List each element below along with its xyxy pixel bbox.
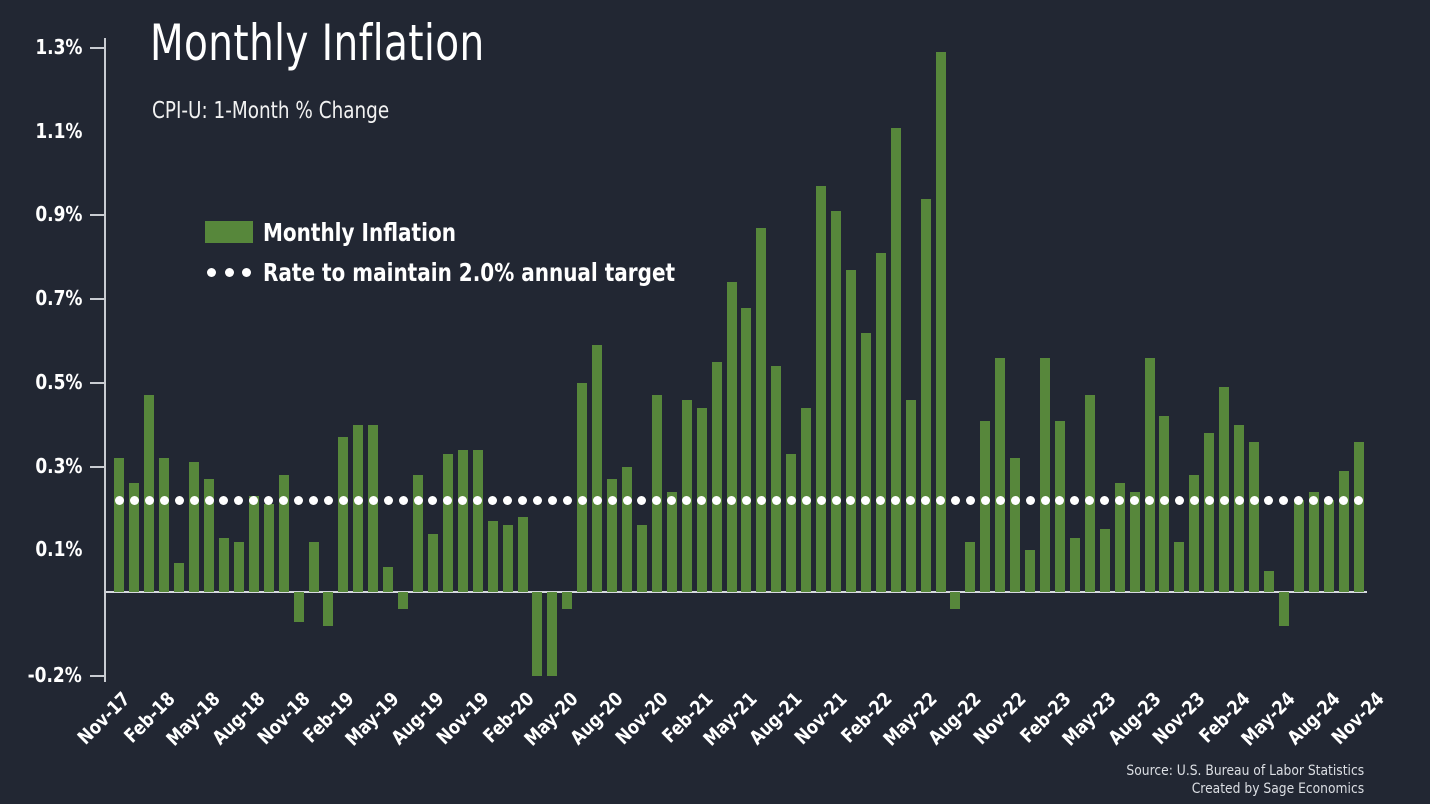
bar [1204, 433, 1214, 592]
bar [1174, 542, 1184, 592]
bar [667, 492, 677, 592]
bar [114, 458, 124, 592]
target-line-dot [832, 496, 841, 505]
target-line-dot [384, 496, 393, 505]
bar [294, 592, 304, 621]
target-line-dot [1205, 496, 1214, 505]
target-line-dot [578, 496, 587, 505]
bar [1219, 387, 1229, 592]
target-line-dot [503, 496, 512, 505]
bar [592, 345, 602, 592]
bar [1264, 571, 1274, 592]
target-line-dot [234, 496, 243, 505]
bar [503, 525, 513, 592]
bar [368, 425, 378, 592]
target-line-dot [518, 496, 527, 505]
target-line-dot [1085, 496, 1094, 505]
target-line-dot [414, 496, 423, 505]
target-line-dot [593, 496, 602, 505]
y-axis-label: 0.7% [35, 286, 82, 310]
target-line-dot [652, 496, 661, 505]
y-axis-label: 0.9% [35, 202, 82, 226]
target-line-dot [115, 496, 124, 505]
bar [786, 454, 796, 592]
target-line-dot [249, 496, 258, 505]
target-line-dot [1354, 496, 1363, 505]
target-line-dot [1100, 496, 1109, 505]
bar [1354, 442, 1364, 593]
chart-canvas: Monthly Inflation CPI-U: 1-Month % Chang… [0, 0, 1430, 804]
y-axis-tick [90, 675, 104, 677]
target-line-dot [354, 496, 363, 505]
y-axis-label: 0.3% [35, 454, 82, 478]
target-line-dot [1011, 496, 1020, 505]
target-line-dot [608, 496, 617, 505]
target-line-dot [1220, 496, 1229, 505]
target-line-dot [175, 496, 184, 505]
bar [1189, 475, 1199, 592]
target-line-dot [309, 496, 318, 505]
bar [652, 395, 662, 592]
target-line-dot [1130, 496, 1139, 505]
target-line-dot [369, 496, 378, 505]
y-axis-tick [90, 382, 104, 384]
bar [473, 450, 483, 592]
target-line-dot [1324, 496, 1333, 505]
bar [936, 52, 946, 592]
target-line-dot [533, 496, 542, 505]
bar [338, 437, 348, 592]
target-line-dot [279, 496, 288, 505]
target-line-dot [772, 496, 781, 505]
bar [1294, 500, 1304, 592]
target-line-dot [190, 496, 199, 505]
y-axis-label: 1.1% [35, 119, 82, 143]
bar [921, 199, 931, 593]
target-line-dot [727, 496, 736, 505]
bar [1085, 395, 1095, 592]
target-line-dot [264, 496, 273, 505]
bar [458, 450, 468, 592]
target-line-dot [1026, 496, 1035, 505]
bar [249, 496, 259, 592]
bar [219, 538, 229, 592]
target-line-dot [1115, 496, 1124, 505]
y-axis-tick [90, 214, 104, 216]
bar [1279, 592, 1289, 625]
bar [279, 475, 289, 592]
bar [144, 395, 154, 592]
y-axis-label: -0.2% [28, 663, 82, 687]
bar [1040, 358, 1050, 592]
target-line-dot [921, 496, 930, 505]
bar [532, 592, 542, 676]
y-axis-tick [90, 47, 104, 49]
target-line-dot [757, 496, 766, 505]
target-line-dot [742, 496, 751, 505]
target-line-dot [697, 496, 706, 505]
bar [443, 454, 453, 592]
target-line-dot [130, 496, 139, 505]
target-line-dot [488, 496, 497, 505]
target-line-dot [1294, 496, 1303, 505]
y-axis-line [104, 38, 106, 682]
bar [891, 128, 901, 593]
bar [861, 333, 871, 593]
target-line-dot [802, 496, 811, 505]
y-axis-tick [90, 466, 104, 468]
bar [831, 211, 841, 592]
target-line-dot [682, 496, 691, 505]
target-line-dot [324, 496, 333, 505]
target-line-dot [981, 496, 990, 505]
target-line-dot [145, 496, 154, 505]
target-line-dot [1041, 496, 1050, 505]
bar [1339, 471, 1349, 592]
target-line-dot [458, 496, 467, 505]
target-line-dot [861, 496, 870, 505]
bar [323, 592, 333, 625]
bar [562, 592, 572, 609]
target-line-dot [1339, 496, 1348, 505]
bar [353, 425, 363, 592]
bar [428, 534, 438, 593]
target-line-dot [443, 496, 452, 505]
bar [1070, 538, 1080, 592]
bar [1234, 425, 1244, 592]
target-line-dot [891, 496, 900, 505]
target-line-dot [876, 496, 885, 505]
target-line-dot [205, 496, 214, 505]
bar [846, 270, 856, 592]
bar [189, 462, 199, 592]
bar [1130, 492, 1140, 592]
target-line-dot [1190, 496, 1199, 505]
target-line-dot [473, 496, 482, 505]
target-line-dot [1250, 496, 1259, 505]
bar [965, 542, 975, 592]
target-line-dot [936, 496, 945, 505]
bar [980, 421, 990, 593]
bar [816, 186, 826, 592]
bar [264, 504, 274, 592]
bar [413, 475, 423, 592]
bar [547, 592, 557, 676]
target-line-dot [1309, 496, 1318, 505]
bar [488, 521, 498, 592]
bar [1309, 492, 1319, 592]
bar [518, 517, 528, 592]
bar [174, 563, 184, 592]
target-line-dot [160, 496, 169, 505]
bar [712, 362, 722, 592]
y-axis-label: 1.3% [35, 35, 82, 59]
bar [383, 567, 393, 592]
y-axis-label: 0.1% [35, 537, 82, 561]
bar [1100, 529, 1110, 592]
bar [756, 228, 766, 592]
y-axis-label: 0.5% [35, 370, 82, 394]
target-line-dot [966, 496, 975, 505]
target-line-dot [817, 496, 826, 505]
bar [1055, 421, 1065, 593]
target-line-dot [1235, 496, 1244, 505]
y-axis-tick [90, 298, 104, 300]
target-line-dot [906, 496, 915, 505]
bar [727, 282, 737, 592]
bar [577, 383, 587, 592]
target-line-dot [399, 496, 408, 505]
bar [1145, 358, 1155, 592]
bar [637, 525, 647, 592]
target-line-dot [563, 496, 572, 505]
target-line-dot [951, 496, 960, 505]
target-line-dot [712, 496, 721, 505]
bar [741, 308, 751, 593]
bar [1010, 458, 1020, 592]
bar [995, 358, 1005, 592]
target-line-dot [1145, 496, 1154, 505]
target-line-dot [996, 496, 1005, 505]
bar [1025, 550, 1035, 592]
target-line-dot [1279, 496, 1288, 505]
bar [622, 467, 632, 593]
target-line-dot [1070, 496, 1079, 505]
target-line-dot [339, 496, 348, 505]
bar [876, 253, 886, 592]
bar [950, 592, 960, 609]
target-line-dot [1175, 496, 1184, 505]
target-line-dot [667, 496, 676, 505]
target-line-dot [548, 496, 557, 505]
bar [309, 542, 319, 592]
bar [398, 592, 408, 609]
target-line-dot [623, 496, 632, 505]
bar [1249, 442, 1259, 593]
bar [159, 458, 169, 592]
target-line-dot [787, 496, 796, 505]
target-line-dot [1160, 496, 1169, 505]
bar [1324, 500, 1334, 592]
target-line-dot [294, 496, 303, 505]
bar [234, 542, 244, 592]
bar [771, 366, 781, 592]
